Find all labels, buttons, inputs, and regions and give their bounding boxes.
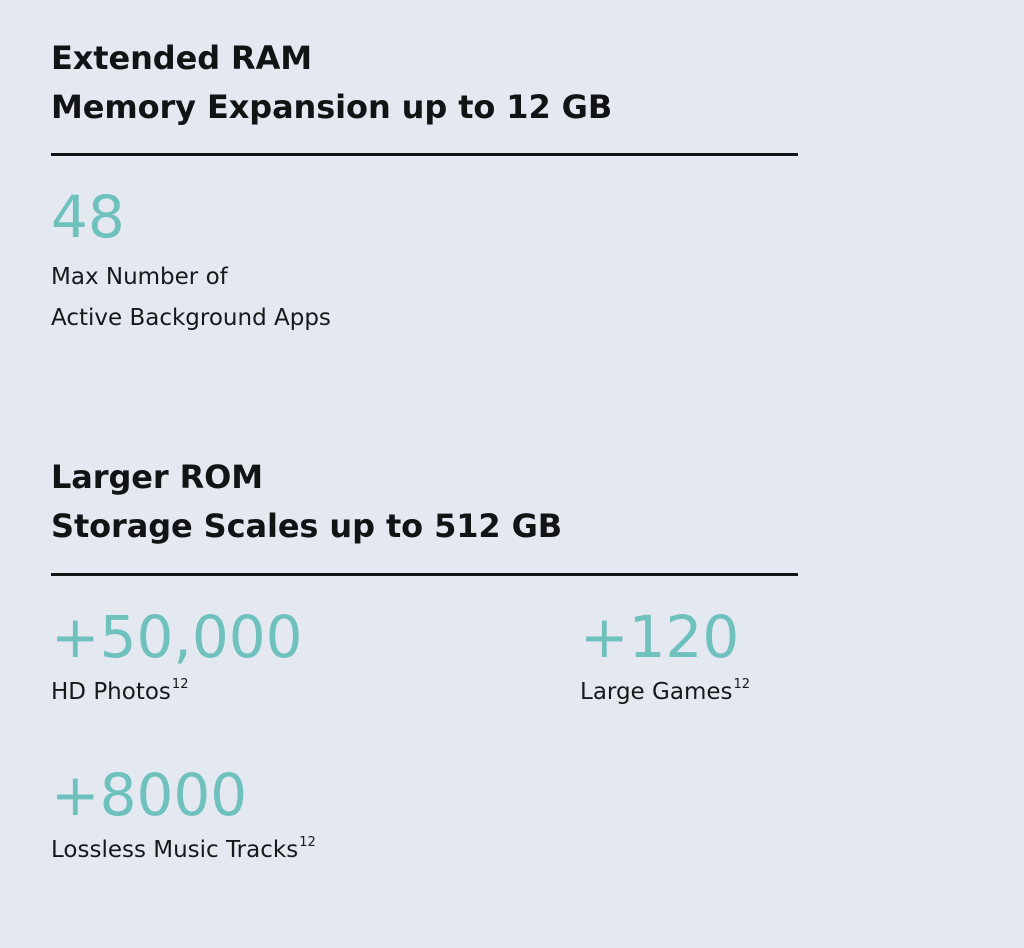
stat-label: Large Games12	[580, 675, 798, 709]
heading-line-primary: Extended RAM	[51, 34, 798, 83]
section-extended-ram: Extended RAM Memory Expansion up to 12 G…	[51, 34, 798, 339]
heading-line-secondary: Storage Scales up to 512 GB	[51, 502, 798, 551]
section-divider-rom	[51, 573, 798, 576]
stat-label-text: Large Games	[580, 679, 732, 705]
stat-label: HD Photos12	[51, 675, 580, 709]
stat-label-line-2: Active Background Apps	[51, 298, 798, 339]
section-divider-ram	[51, 153, 798, 156]
stat-value: 48	[51, 187, 798, 247]
footnote-marker: 12	[172, 677, 189, 692]
stat-label: Lossless Music Tracks12	[51, 833, 798, 867]
stat-active-background-apps: 48 Max Number of Active Background Apps	[51, 187, 798, 339]
section-heading-rom: Larger ROM Storage Scales up to 512 GB	[51, 453, 798, 551]
heading-line-primary: Larger ROM	[51, 453, 798, 502]
stat-row: +8000 Lossless Music Tracks12	[51, 765, 798, 867]
stat-row: +50,000 HD Photos12 +120 Large Games12	[51, 607, 798, 709]
stats-group-rom: +50,000 HD Photos12 +120 Large Games12 +…	[51, 607, 798, 867]
stat-label-text: Lossless Music Tracks	[51, 837, 298, 863]
stats-group-ram: 48 Max Number of Active Background Apps	[51, 187, 798, 339]
spec-panel: Extended RAM Memory Expansion up to 12 G…	[0, 0, 1024, 948]
heading-line-secondary: Memory Expansion up to 12 GB	[51, 83, 798, 132]
stat-label-text: HD Photos	[51, 679, 171, 705]
footnote-marker: 12	[299, 835, 316, 850]
stat-value: +50,000	[51, 607, 580, 667]
section-heading-ram: Extended RAM Memory Expansion up to 12 G…	[51, 34, 798, 132]
stat-large-games: +120 Large Games12	[580, 607, 798, 709]
stat-row: 48 Max Number of Active Background Apps	[51, 187, 798, 339]
stat-label: Max Number of Active Background Apps	[51, 257, 798, 339]
footnote-marker: 12	[733, 677, 750, 692]
stat-value: +120	[580, 607, 798, 667]
section-larger-rom: Larger ROM Storage Scales up to 512 GB +…	[51, 453, 798, 867]
stat-hd-photos: +50,000 HD Photos12	[51, 607, 580, 709]
stat-value: +8000	[51, 765, 798, 825]
stat-lossless-music-tracks: +8000 Lossless Music Tracks12	[51, 765, 798, 867]
stat-label-line-1: Max Number of	[51, 257, 798, 298]
